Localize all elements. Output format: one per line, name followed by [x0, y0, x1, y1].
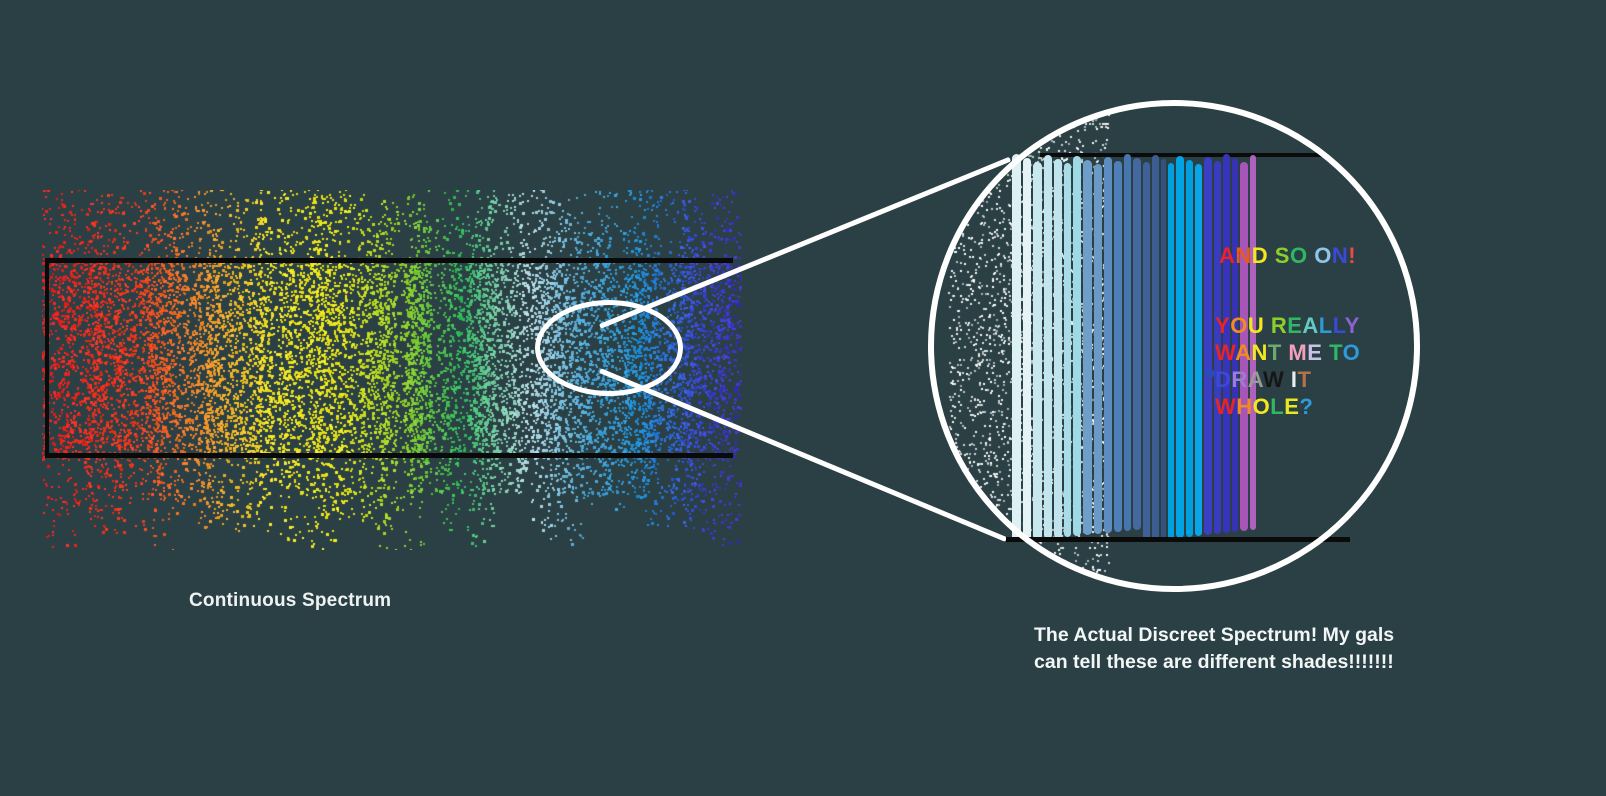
rainbow-letter: O: [1314, 243, 1332, 268]
rainbow-letter: A: [1219, 243, 1235, 268]
rainbow-letter: [1268, 243, 1275, 268]
rainbow-letter: A: [1248, 367, 1263, 392]
rainbow-letter: L: [1319, 313, 1333, 338]
rainbow-letter: O: [1253, 394, 1271, 419]
rainbow-letter: ?: [1299, 394, 1313, 419]
discrete-spectrum-caption: The Actual Discreet Spectrum! My gals ca…: [1034, 622, 1504, 676]
rainbow-letter: E: [1307, 340, 1322, 365]
annotation-and-so-on: AND SO ON!: [1219, 243, 1356, 269]
rainbow-letter: T: [1268, 340, 1282, 365]
rainbow-letter: Y: [1215, 313, 1230, 338]
rainbow-letter: W: [1215, 340, 1235, 365]
rainbow-letter: N: [1332, 243, 1348, 268]
rainbow-letter: S: [1275, 243, 1290, 268]
discrete-caption-line-1: The Actual Discreet Spectrum! My gals: [1034, 622, 1504, 649]
spectrum-illustration: Continuous Spectrum AND SO ON! YOU REALL…: [0, 0, 1606, 796]
continuous-spectrum-label: Continuous Spectrum: [189, 590, 391, 612]
rainbow-letter: [1284, 367, 1291, 392]
rainbow-letter: L: [1333, 313, 1345, 338]
rainbow-letter: W: [1215, 394, 1236, 419]
discrete-caption-line-2: can tell these are different shades!!!!!…: [1034, 649, 1504, 676]
rainbow-letter: O: [1230, 313, 1248, 338]
rainbow-letter: H: [1236, 394, 1252, 419]
annotation-draw-it: DRAW IT: [1215, 367, 1311, 393]
rainbow-letter: W: [1263, 367, 1284, 392]
rainbow-letter: U: [1248, 313, 1264, 338]
rainbow-letter: M: [1288, 340, 1307, 365]
rainbow-letter: [1264, 313, 1271, 338]
annotation-you-really: YOU REALLY: [1215, 313, 1360, 339]
annotation-want-me-to: WANT ME TO: [1215, 340, 1360, 366]
rainbow-letter: T: [1297, 367, 1311, 392]
rainbow-letter: O: [1343, 340, 1361, 365]
annotation-whole: WHOLE?: [1215, 394, 1313, 420]
rainbow-letter: T: [1329, 340, 1343, 365]
rainbow-letter: A: [1302, 313, 1318, 338]
rainbow-letter: E: [1287, 313, 1302, 338]
rainbow-letter: D: [1252, 243, 1268, 268]
rainbow-letter: N: [1251, 340, 1267, 365]
rainbow-letter: D: [1215, 367, 1231, 392]
rainbow-letter: Y: [1345, 313, 1360, 338]
rainbow-letter: !: [1348, 243, 1356, 268]
rainbow-letter: A: [1235, 340, 1251, 365]
rainbow-letter: O: [1290, 243, 1308, 268]
rainbow-letter: R: [1271, 313, 1287, 338]
blue-dot-marker: [1204, 369, 1215, 378]
rainbow-letter: R: [1231, 367, 1247, 392]
rainbow-letter: N: [1235, 243, 1251, 268]
rainbow-letter: E: [1284, 394, 1299, 419]
rainbow-letter: L: [1270, 394, 1284, 419]
magnifier-source-circle: [535, 300, 683, 396]
